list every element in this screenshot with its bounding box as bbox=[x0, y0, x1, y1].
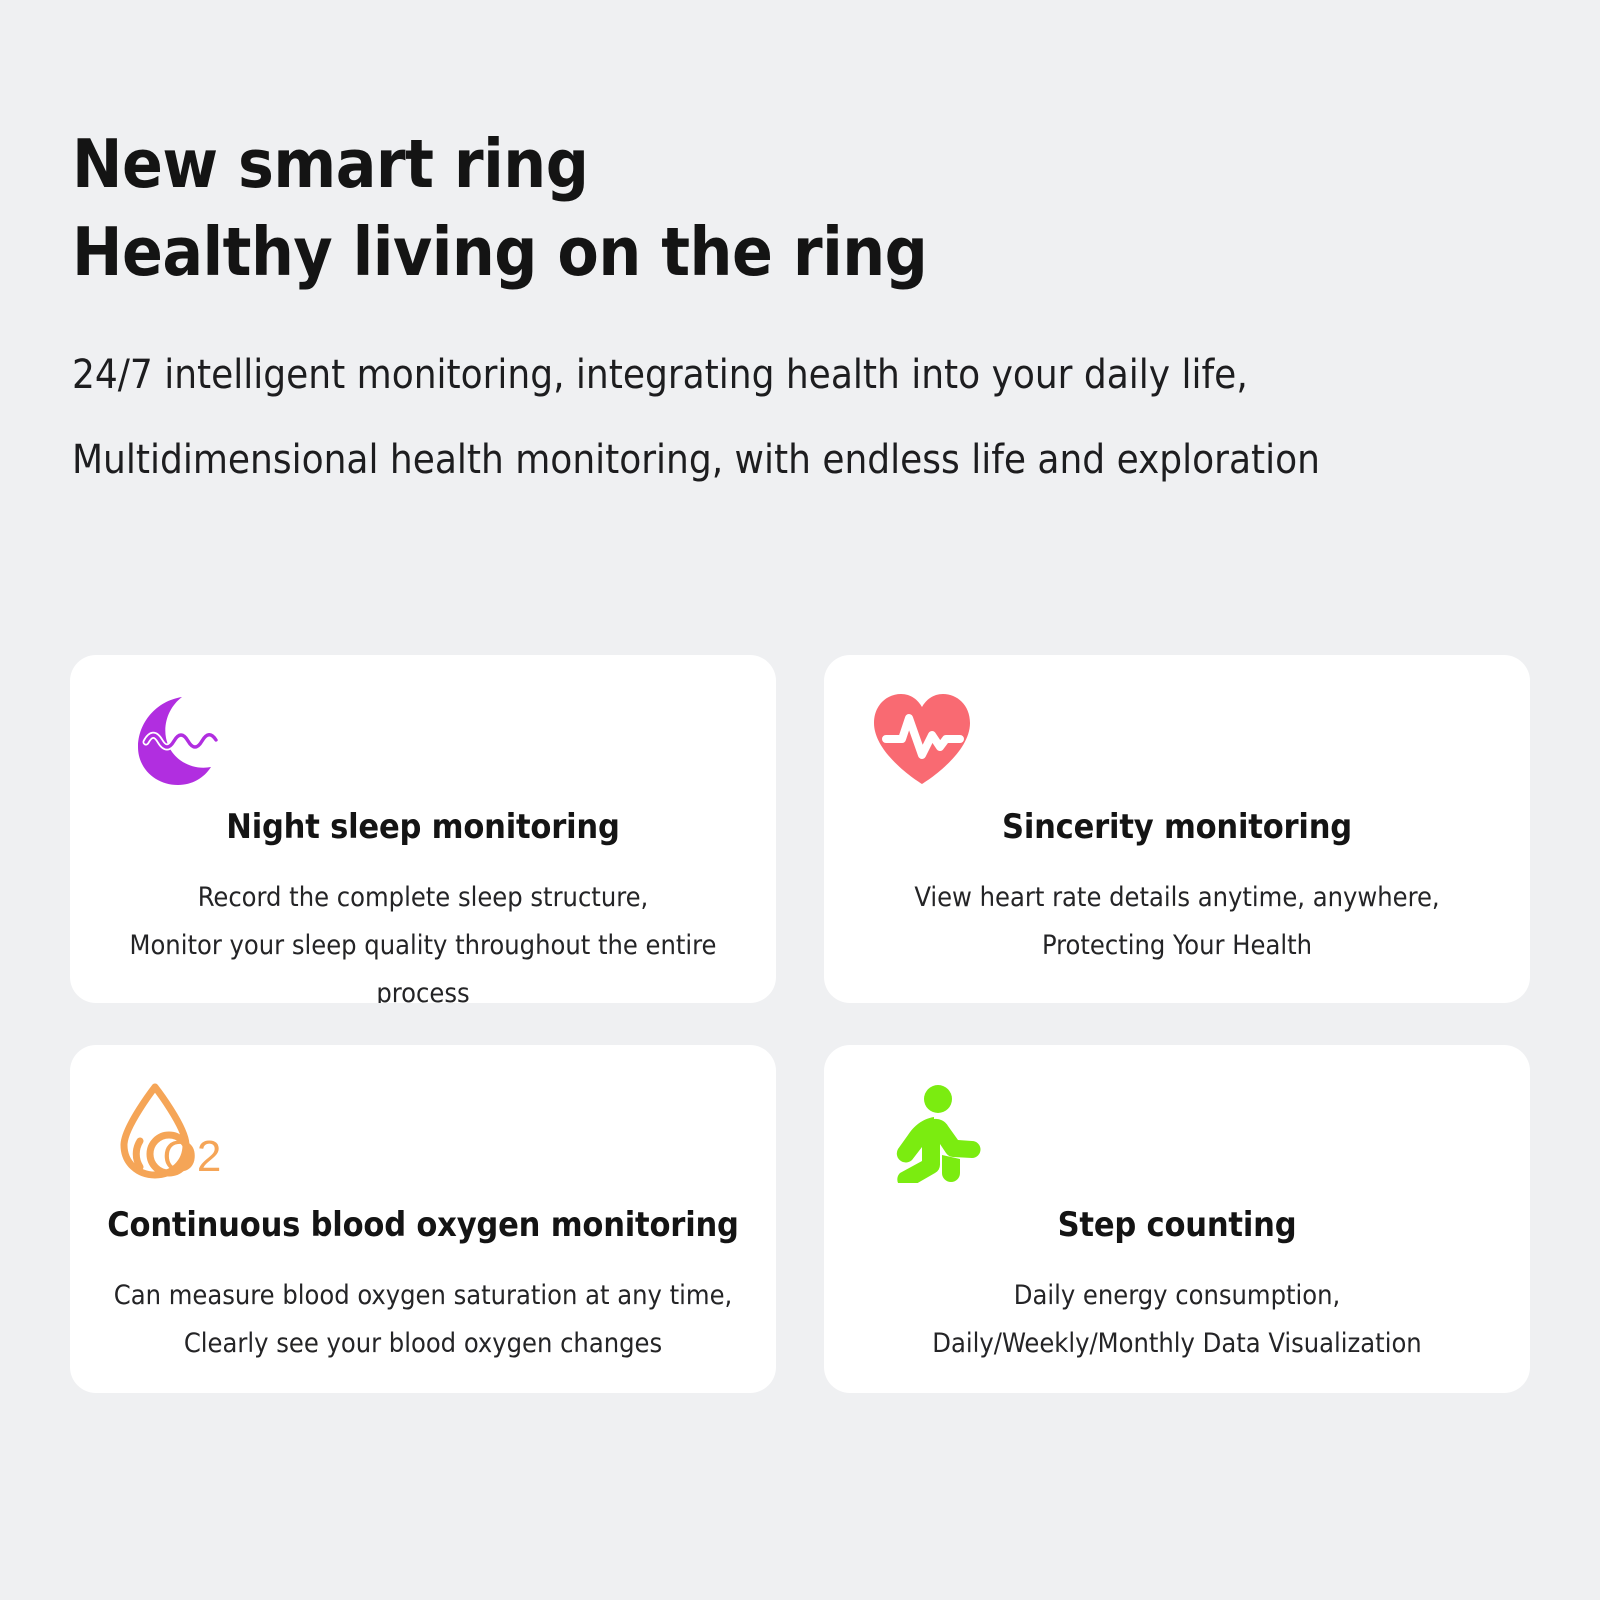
feature-card-description-line-2: Monitor your sleep quality throughout th… bbox=[100, 922, 746, 1003]
feature-card-heart-rate[interactable]: Sincerity monitoring View heart rate det… bbox=[824, 655, 1530, 1003]
running-person-icon bbox=[872, 1079, 984, 1183]
feature-card-description-line-2: Clearly see your blood oxygen changes bbox=[100, 1320, 746, 1368]
page-subtitle: 24/7 intelligent monitoring, integrating… bbox=[72, 333, 1532, 503]
feature-card-title: Sincerity monitoring bbox=[854, 807, 1500, 848]
feature-card-blood-oxygen[interactable]: O2 Continuous blood oxygen monitoring Ca… bbox=[70, 1045, 776, 1393]
page-subtitle-line-2: Multidimensional health monitoring, with… bbox=[72, 418, 1532, 503]
feature-card-description: View heart rate details anytime, anywher… bbox=[854, 874, 1500, 970]
feature-card-description-line-2: Protecting Your Health bbox=[854, 922, 1500, 970]
feature-card-night-sleep[interactable]: Night sleep monitoring Record the comple… bbox=[70, 655, 776, 1003]
oxygen-icon-label: O2 bbox=[163, 1132, 222, 1181]
page-title-line-2: Healthy living on the ring bbox=[72, 208, 1532, 296]
feature-card-description: Daily energy consumption, Daily/Weekly/M… bbox=[854, 1272, 1500, 1368]
feature-card-title: Continuous blood oxygen monitoring bbox=[100, 1205, 746, 1246]
feature-card-description-line-1: Can measure blood oxygen saturation at a… bbox=[100, 1272, 746, 1320]
feature-card-description: Can measure blood oxygen saturation at a… bbox=[100, 1272, 746, 1368]
page-subtitle-line-1: 24/7 intelligent monitoring, integrating… bbox=[72, 333, 1532, 418]
feature-card-description-line-1: Record the complete sleep structure, bbox=[100, 874, 746, 922]
feature-card-step-counting[interactable]: Step counting Daily energy consumption, … bbox=[824, 1045, 1530, 1393]
feature-card-description-line-1: Daily energy consumption, bbox=[854, 1272, 1500, 1320]
crescent-moon-sleep-icon bbox=[116, 687, 228, 791]
feature-card-description: Record the complete sleep structure, Mon… bbox=[100, 874, 746, 1003]
feature-card-description-line-2: Daily/Weekly/Monthly Data Visualization bbox=[854, 1320, 1500, 1368]
feature-card-title: Step counting bbox=[854, 1205, 1500, 1246]
feature-card-grid: Night sleep monitoring Record the comple… bbox=[70, 655, 1530, 1393]
feature-card-title: Night sleep monitoring bbox=[100, 807, 746, 848]
heart-pulse-icon bbox=[866, 687, 978, 791]
feature-card-description-line-1: View heart rate details anytime, anywher… bbox=[854, 874, 1500, 922]
blood-oxygen-droplet-icon: O2 bbox=[110, 1079, 222, 1183]
promo-page: New smart ring Healthy living on the rin… bbox=[0, 0, 1600, 1600]
hero-section: New smart ring Healthy living on the rin… bbox=[72, 120, 1532, 502]
page-title-line-1: New smart ring bbox=[72, 120, 1532, 208]
